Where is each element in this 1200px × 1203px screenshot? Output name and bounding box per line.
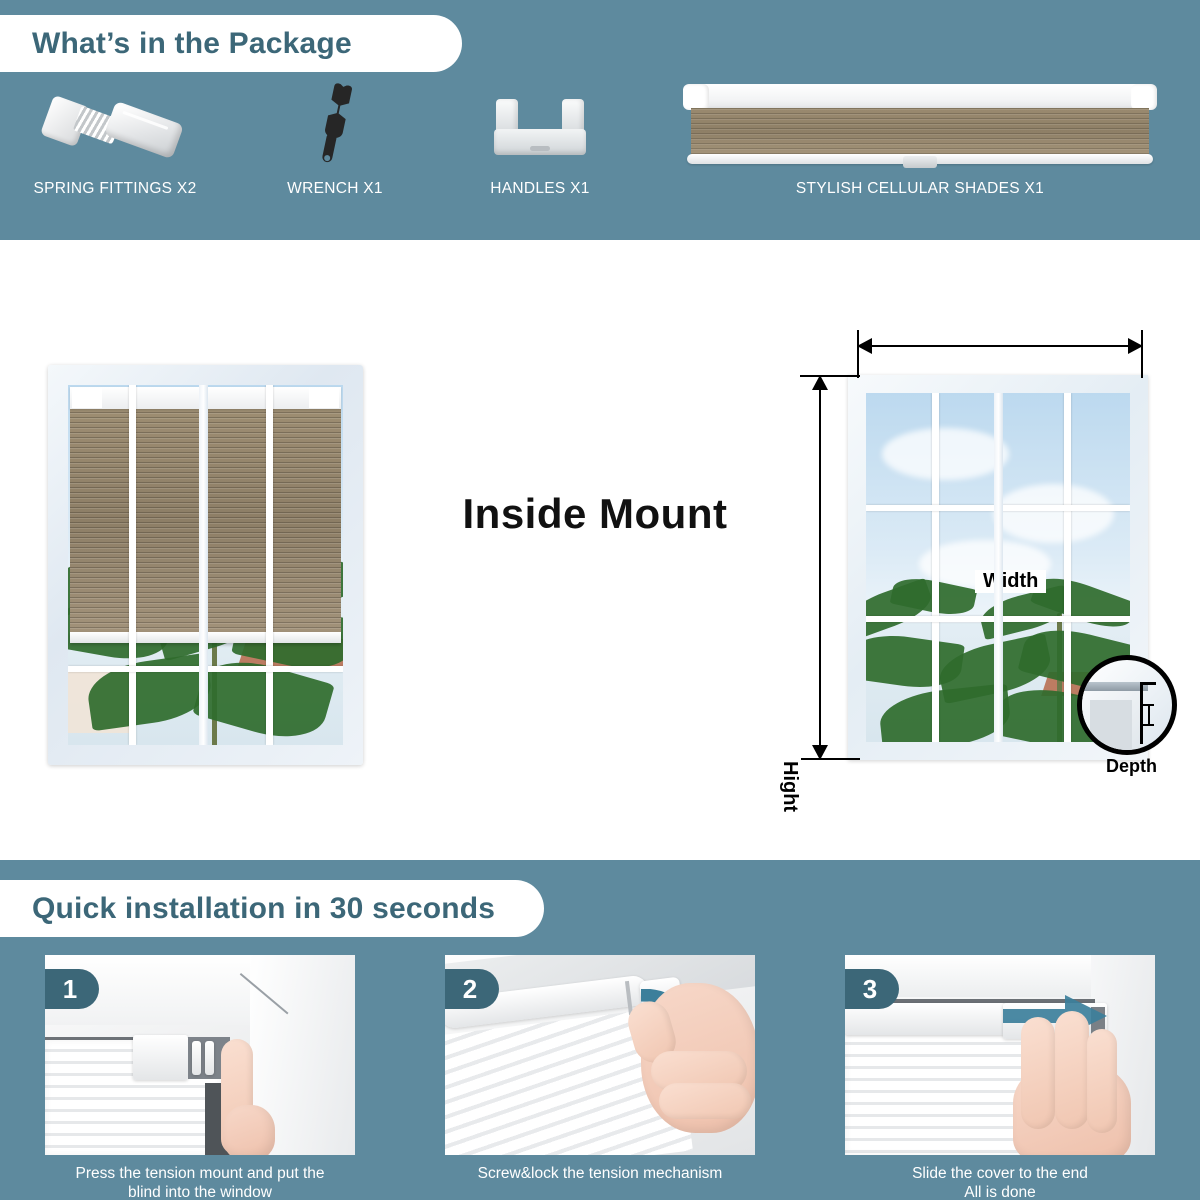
window-with-shade-image	[48, 365, 363, 765]
step-photo: 3	[845, 955, 1155, 1155]
spring-fitting-icon	[10, 80, 220, 172]
width-arrow-left	[857, 338, 872, 354]
step-photo: 1	[45, 955, 355, 1155]
height-arrow-bottom	[812, 745, 828, 760]
package-title: What’s in the Package	[0, 27, 352, 61]
handle-bracket-icon	[450, 80, 630, 172]
package-item-cellular-shade: STYLISH CELLULAR SHADES X1	[650, 80, 1190, 198]
package-item-wrench: WRENCH X1	[245, 80, 425, 198]
width-arrow-right	[1128, 338, 1143, 354]
installation-title: Quick installation in 30 seconds	[0, 892, 495, 926]
step-photo: 2	[445, 955, 755, 1155]
install-step-3: 3 Slide the cover to the end All is	[845, 955, 1155, 1203]
package-item-label: SPRING FITTINGS X2	[10, 180, 220, 198]
package-item-label: WRENCH X1	[245, 180, 425, 198]
step-caption: Slide the cover to the end All is done	[845, 1164, 1155, 1203]
install-step-1: 1 Press the tension mount and put the bl…	[45, 955, 355, 1203]
cellular-shade-icon	[650, 80, 1190, 172]
width-label: Width	[975, 570, 1046, 593]
wrench-icon	[245, 80, 425, 172]
step-caption: Press the tension mount and put the blin…	[45, 1164, 355, 1203]
step-number-badge: 2	[445, 969, 499, 1009]
height-dimension-line	[819, 375, 821, 760]
height-arrow-top	[812, 375, 828, 390]
package-item-label: STYLISH CELLULAR SHADES X1	[650, 180, 1190, 198]
step-caption: Screw&lock the tension mechanism	[445, 1164, 755, 1183]
depth-magnifier-circle	[1077, 655, 1177, 755]
depth-label: Depth	[1098, 756, 1165, 777]
package-title-pill: What’s in the Package	[0, 15, 462, 72]
inside-mount-section: Inside Mount	[0, 240, 1200, 860]
package-item-label: HANDLES X1	[450, 180, 630, 198]
page-title: Inside Mount	[430, 490, 760, 538]
package-item-spring-fittings: SPRING FITTINGS X2	[10, 80, 220, 198]
installation-steps: 1 Press the tension mount and put the bl…	[0, 955, 1200, 1200]
package-item-handles: HANDLES X1	[450, 80, 630, 198]
package-items-row: SPRING FITTINGS X2 WRENCH X1	[0, 80, 1200, 230]
step-number-badge: 3	[845, 969, 899, 1009]
infographic-page: What’s in the Package SPRING FITTINGS X2	[0, 0, 1200, 1200]
height-label: Hight	[778, 755, 801, 818]
installation-title-pill: Quick installation in 30 seconds	[0, 880, 544, 937]
width-dimension-line	[857, 345, 1143, 347]
height-tick-bottom	[800, 758, 860, 760]
step-number-badge: 1	[45, 969, 99, 1009]
install-step-2: 2 Screw&lock the tension mechanism	[445, 955, 755, 1183]
height-tick-top	[800, 375, 860, 377]
